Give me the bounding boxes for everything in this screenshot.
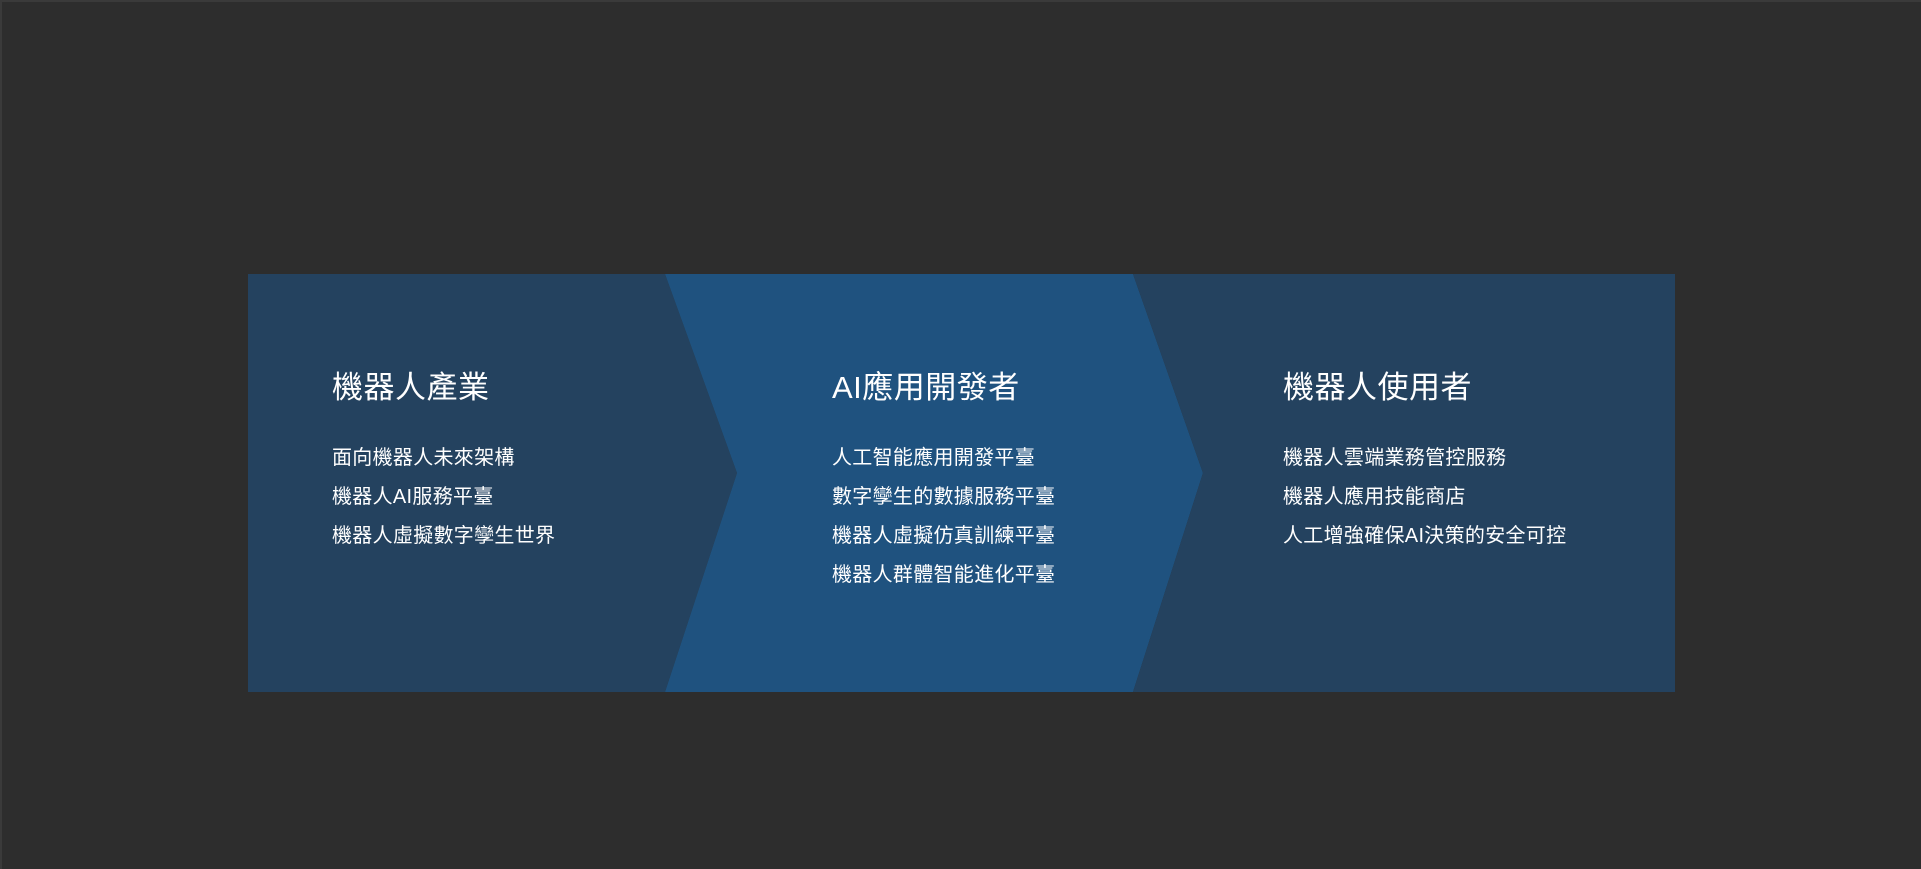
column-item-list-ai-app-developer: 人工智能應用開發平臺 數字孿生的數據服務平臺 機器人虛擬仿真訓練平臺 機器人群體… — [832, 439, 1055, 595]
chevron-process-diagram: 機器人產業 面向機器人未來架構 機器人AI服務平臺 機器人虛擬數字孿生世界 AI… — [248, 274, 1675, 692]
list-item: 機器人應用技能商店 — [1283, 478, 1566, 517]
column-heading-robot-user: 機器人使用者 — [1283, 372, 1472, 403]
column-item-list-robot-industry: 面向機器人未來架構 機器人AI服務平臺 機器人虛擬數字孿生世界 — [332, 439, 555, 556]
list-item: 數字孿生的數據服務平臺 — [832, 478, 1055, 517]
chevron-column-robot-user: 機器人使用者 機器人雲端業務管控服務 機器人應用技能商店 人工增強確保AI決策的… — [1283, 274, 1643, 692]
list-item: 機器人虛擬數字孿生世界 — [332, 517, 555, 556]
chevron-column-robot-industry: 機器人產業 面向機器人未來架構 機器人AI服務平臺 機器人虛擬數字孿生世界 — [332, 274, 662, 692]
column-heading-ai-app-developer: AI應用開發者 — [832, 372, 1020, 403]
list-item: 人工增強確保AI決策的安全可控 — [1283, 517, 1566, 556]
list-item: 機器人虛擬仿真訓練平臺 — [832, 517, 1055, 556]
list-item: 人工智能應用開發平臺 — [832, 439, 1055, 478]
list-item: 面向機器人未來架構 — [332, 439, 555, 478]
column-item-list-robot-user: 機器人雲端業務管控服務 機器人應用技能商店 人工增強確保AI決策的安全可控 — [1283, 439, 1566, 556]
chevron-column-ai-app-developer: AI應用開發者 人工智能應用開發平臺 數字孿生的數據服務平臺 機器人虛擬仿真訓練… — [832, 274, 1172, 692]
list-item: 機器人雲端業務管控服務 — [1283, 439, 1566, 478]
column-heading-robot-industry: 機器人產業 — [332, 372, 490, 403]
list-item: 機器人群體智能進化平臺 — [832, 556, 1055, 595]
list-item: 機器人AI服務平臺 — [332, 478, 555, 517]
